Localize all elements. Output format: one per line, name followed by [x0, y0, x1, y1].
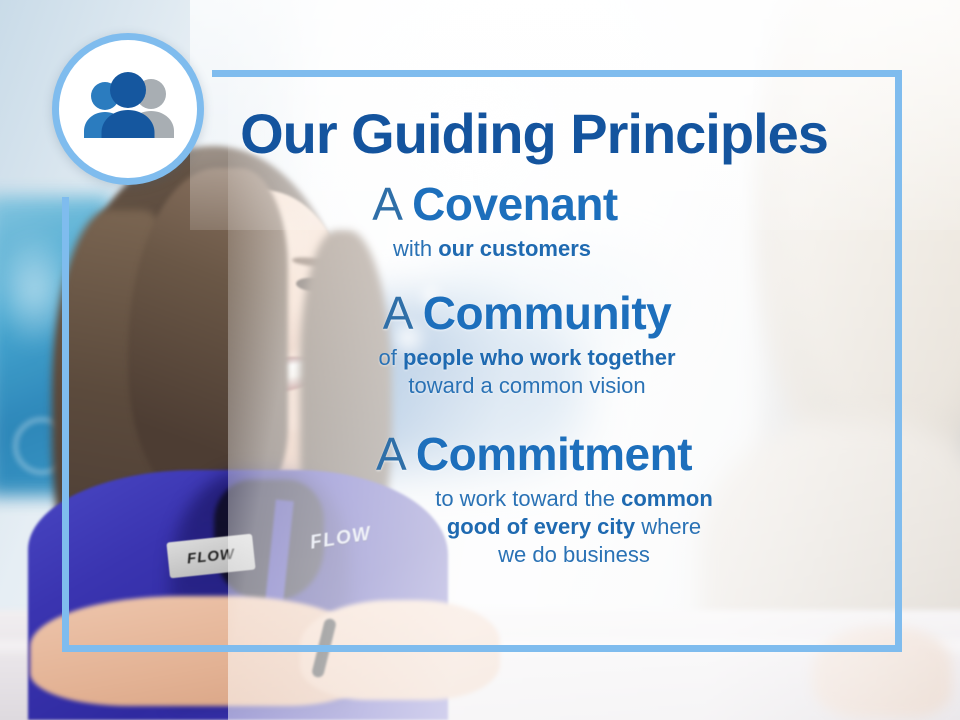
page-title: Our Guiding Principles: [212, 77, 856, 162]
frame-bottom-border: [62, 645, 902, 652]
frame-left-border: [62, 197, 69, 652]
principle-commitment-heading: A Commitment: [212, 430, 856, 479]
guiding-principles-banner: FLOW FLOW: [0, 0, 960, 720]
principle-covenant-heading: A Covenant: [212, 180, 778, 229]
people-group-badge: [52, 33, 204, 185]
people-group-icon: [76, 71, 180, 147]
frame-right-border: [895, 70, 902, 652]
principle-covenant-subtext: with our customers: [212, 235, 778, 263]
principle-covenant-article: A: [372, 178, 400, 230]
principle-community-subtext: of people who work togethertoward a comm…: [212, 344, 842, 400]
principle-covenant: A Covenant with our customers: [212, 180, 856, 263]
principle-community-heading: A Community: [212, 289, 842, 338]
principle-community-article: A: [383, 287, 411, 339]
principle-commitment: A Commitment to work toward the commongo…: [212, 430, 856, 569]
principles-content: Our Guiding Principles A Covenant with o…: [212, 77, 896, 645]
principle-commitment-keyword: Commitment: [416, 428, 692, 480]
frame-top-border: [212, 70, 902, 77]
principle-covenant-keyword: Covenant: [412, 178, 618, 230]
principle-commitment-article: A: [376, 428, 404, 480]
principle-community-keyword: Community: [423, 287, 672, 339]
principle-commitment-subtext: to work toward the commongood of every c…: [212, 485, 856, 569]
principle-community: A Community of people who work togethert…: [212, 289, 856, 400]
